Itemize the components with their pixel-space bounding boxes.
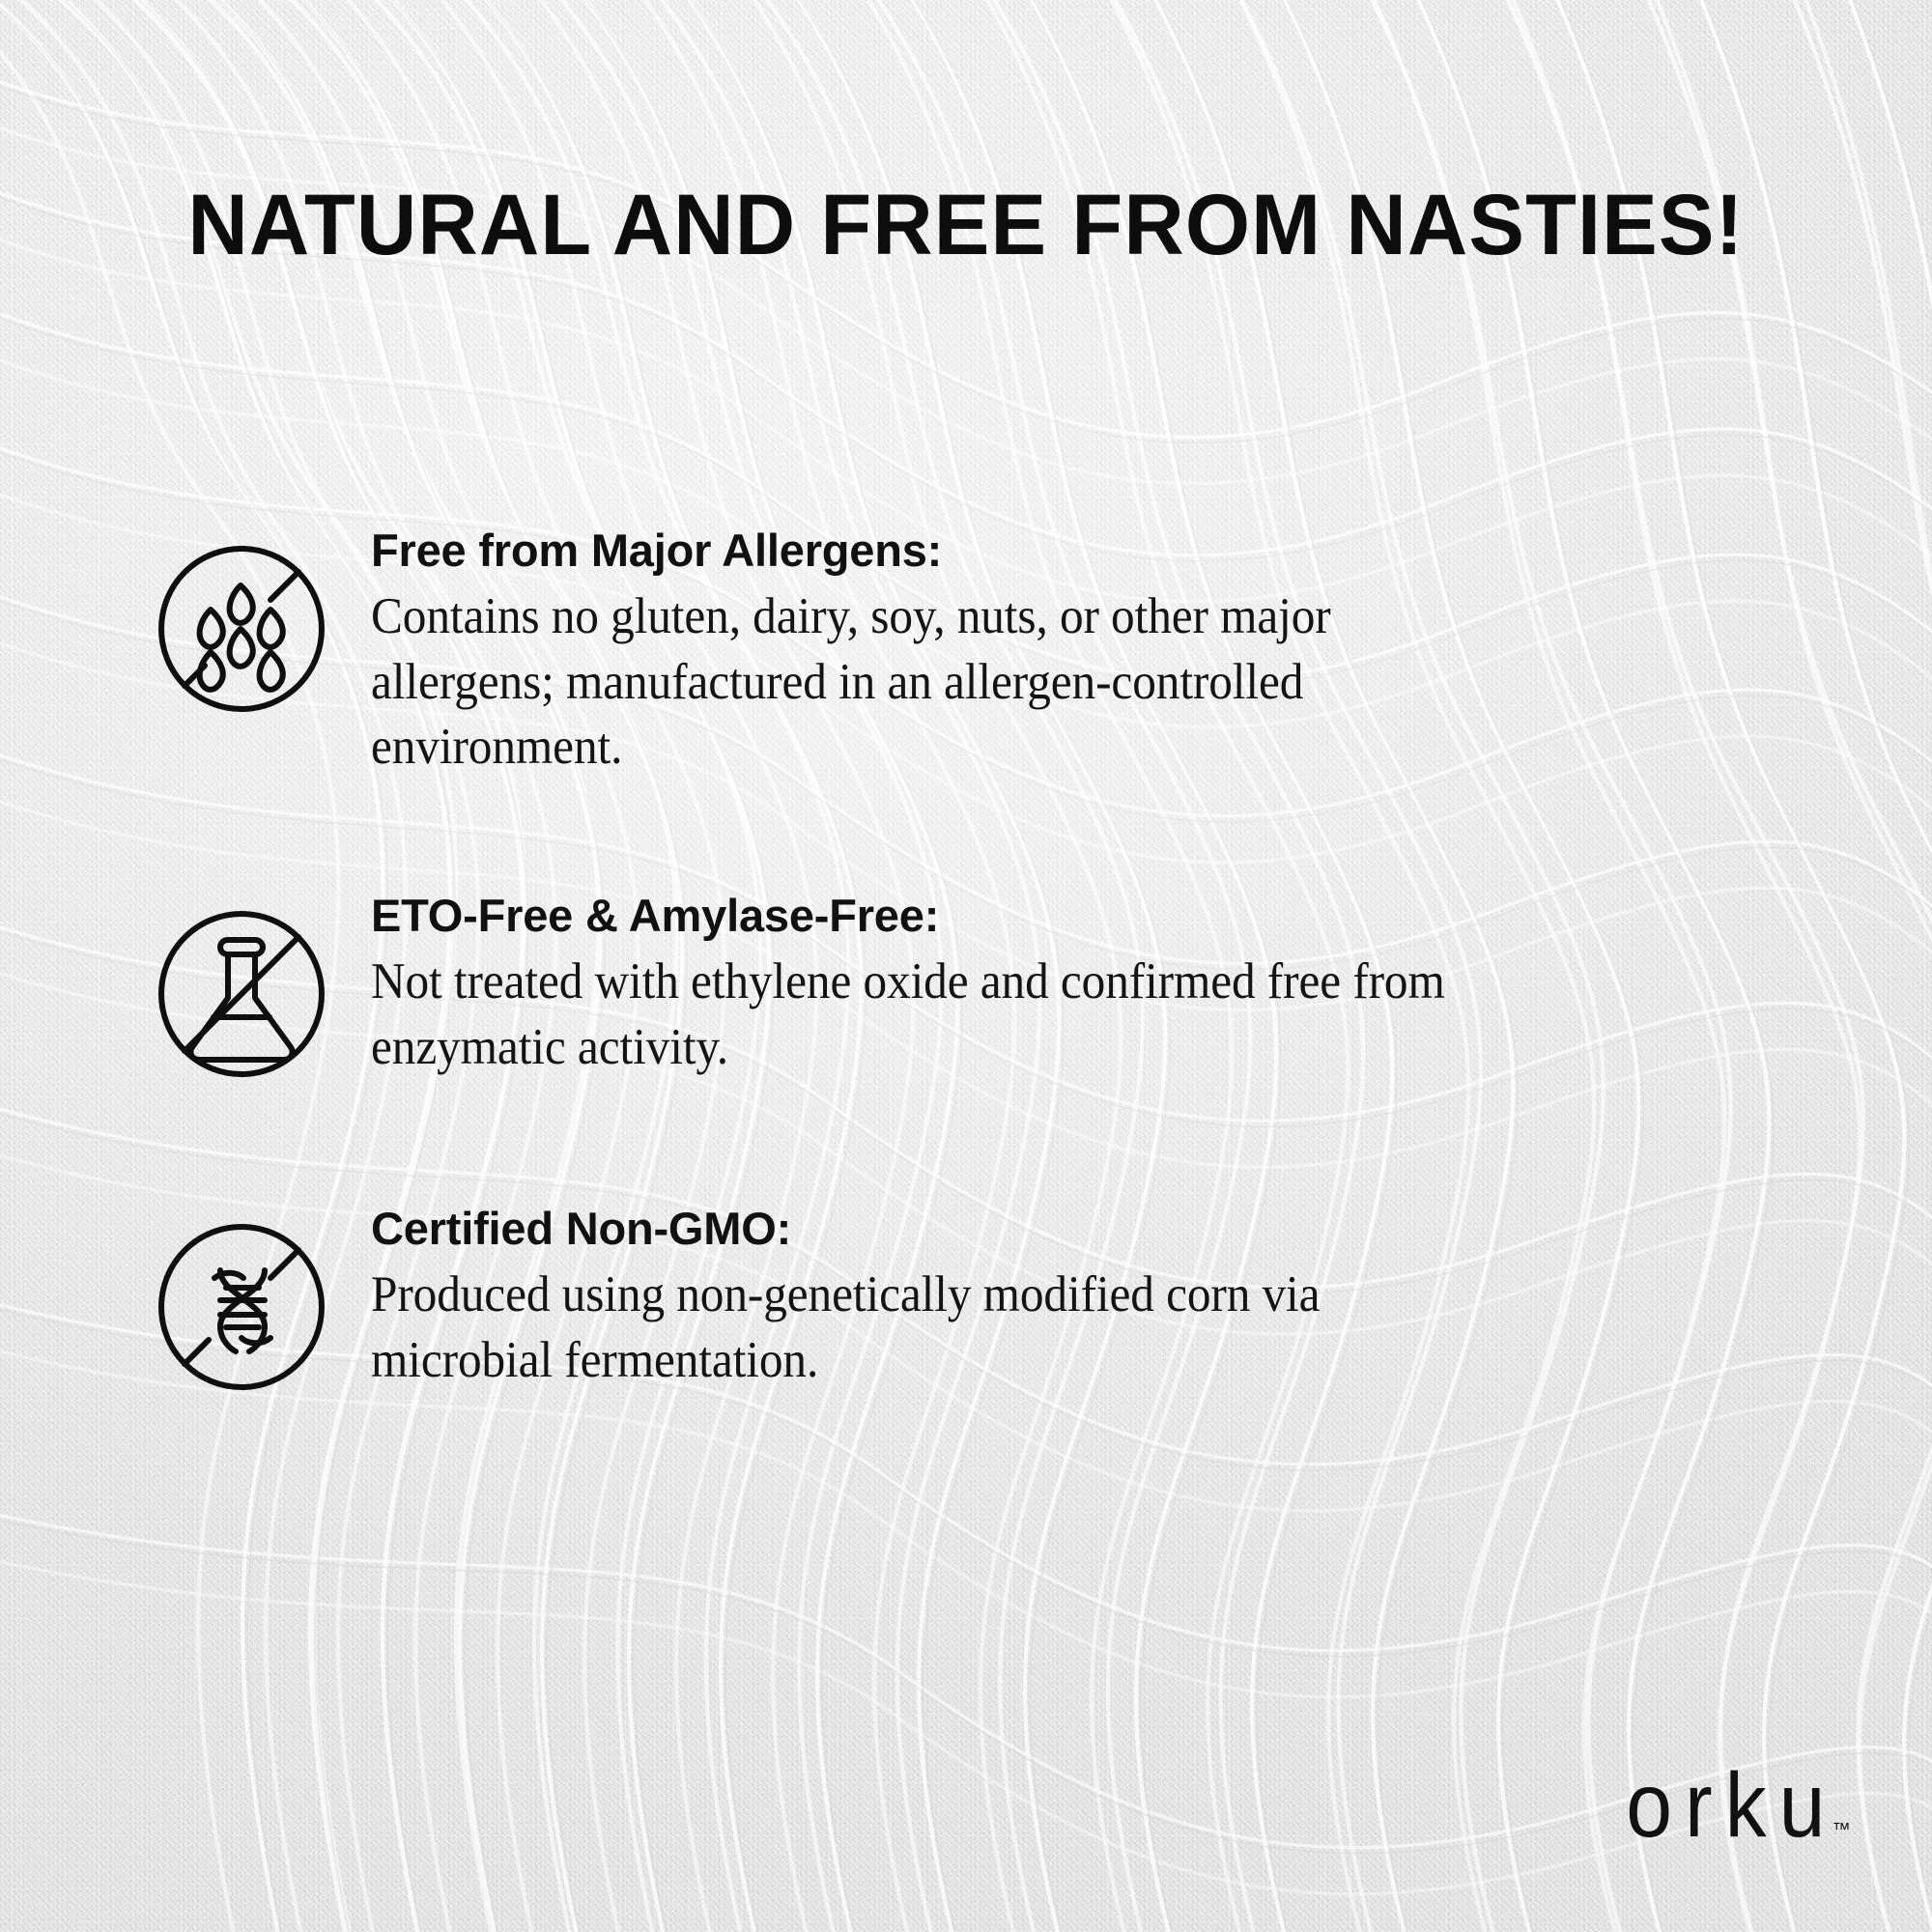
- feature-text-block: ETO-Free & Amylase-Free: Not treated wit…: [338, 892, 1932, 1080]
- feature-heading: Certified Non-GMO:: [371, 1205, 1352, 1253]
- page-title: NATURAL AND FREE FROM NASTIES!: [29, 182, 1903, 268]
- no-flask-chemical-icon: [145, 897, 338, 1091]
- feature-heading: ETO-Free & Amylase-Free:: [371, 892, 1478, 940]
- feature-text-block: Free from Major Allergens: Contains no g…: [338, 526, 1932, 781]
- no-grain-allergen-icon: [145, 532, 338, 725]
- poster-content: NATURAL AND FREE FROM NASTIES!: [0, 0, 1932, 1932]
- list-item: Certified Non-GMO: Produced using non-ge…: [0, 1205, 1932, 1404]
- feature-text-block: Certified Non-GMO: Produced using non-ge…: [338, 1205, 1932, 1393]
- brand-logo: orku ™: [1626, 1773, 1851, 1847]
- feature-body: Produced using non-genetically modified …: [371, 1263, 1352, 1394]
- list-item: Free from Major Allergens: Contains no g…: [0, 526, 1932, 781]
- feature-body: Contains no gluten, dairy, soy, nuts, or…: [371, 584, 1352, 781]
- feature-list: Free from Major Allergens: Contains no g…: [0, 526, 1932, 1404]
- list-item: ETO-Free & Amylase-Free: Not treated wit…: [0, 892, 1932, 1091]
- no-dna-gmo-icon: [145, 1210, 338, 1404]
- poster-canvas: NATURAL AND FREE FROM NASTIES!: [0, 0, 1932, 1932]
- feature-heading: Free from Major Allergens:: [371, 526, 1352, 575]
- brand-wordmark: orku: [1626, 1765, 1837, 1847]
- feature-body: Not treated with ethylene oxide and conf…: [371, 950, 1478, 1081]
